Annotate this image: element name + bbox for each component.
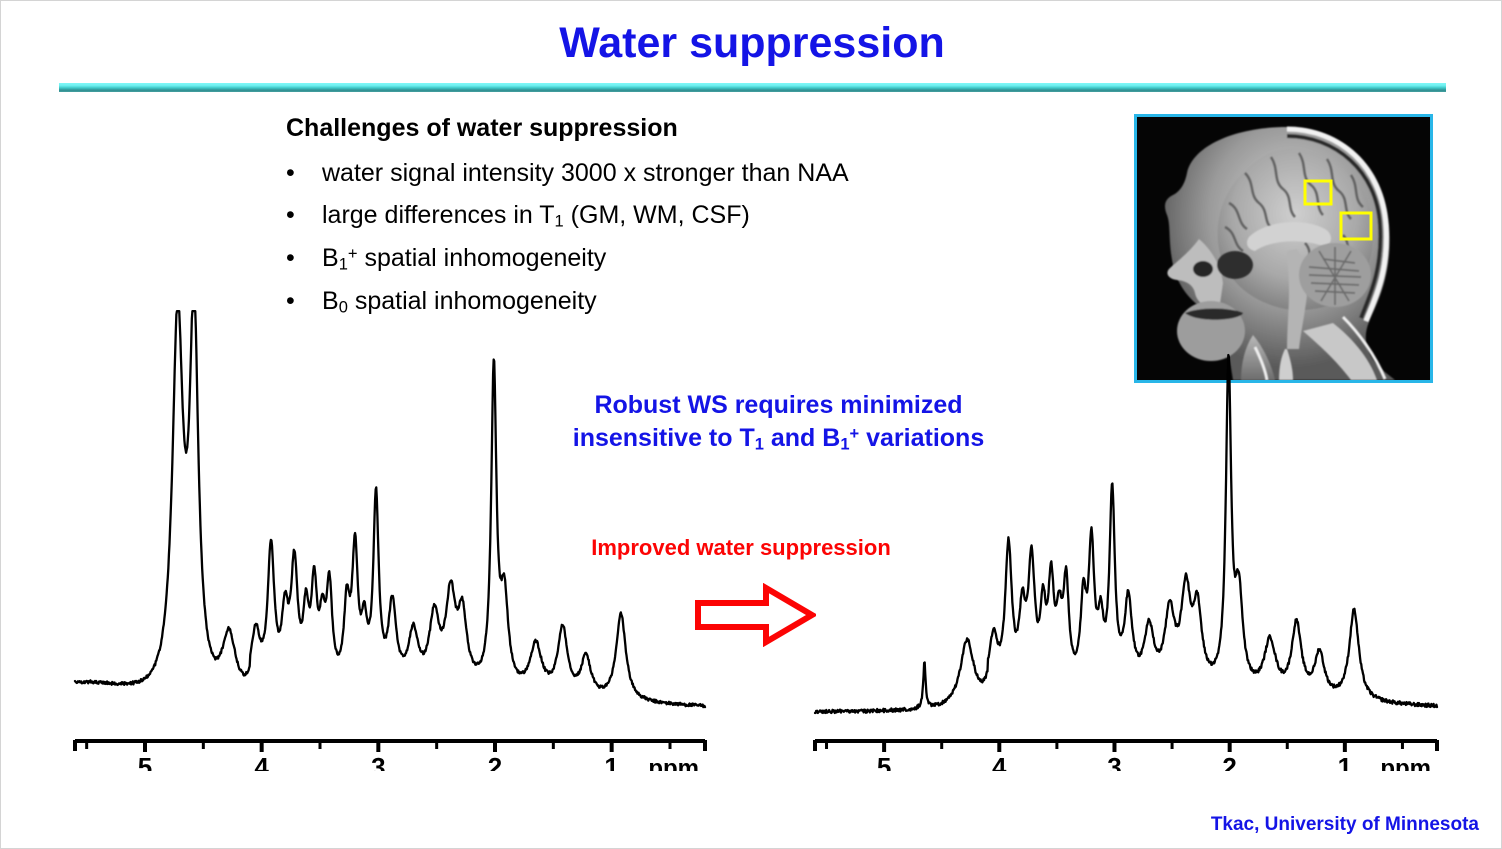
spectrum-right-svg: 54321ppm — [799, 301, 1451, 771]
voxel-box-overlay — [1339, 211, 1375, 243]
spectrum-left-svg: 54321ppm — [59, 301, 719, 771]
axis-tick-label: 2 — [488, 752, 502, 771]
credit-line: Tkac, University of Minnesota — [1211, 814, 1479, 836]
axis-tick-label: 2 — [1222, 752, 1236, 771]
bullet-marker-icon: • — [286, 203, 322, 228]
list-item-label: B1+ spatial inhomogeneity — [322, 244, 606, 275]
list-item-label: water signal intensity 3000 x stronger t… — [322, 159, 849, 189]
axis-tick-label: 5 — [877, 752, 891, 771]
list-item-label: large differences in T1 (GM, WM, CSF) — [322, 201, 750, 232]
spectrum-chart-after: 54321ppm — [799, 301, 1451, 771]
axis-tick-label: 3 — [1107, 752, 1121, 771]
list-item: • B1+ spatial inhomogeneity — [286, 244, 986, 275]
ppm-axis: 54321ppm — [815, 740, 1437, 771]
axis-tick-label: 3 — [371, 752, 385, 771]
bullet-marker-icon: • — [286, 246, 322, 271]
spectrum-trace — [75, 311, 705, 707]
axis-tick-label: 5 — [138, 752, 152, 771]
axis-unit-label: ppm — [1380, 755, 1431, 771]
axis-unit-label: ppm — [648, 755, 699, 771]
title-divider — [59, 83, 1446, 92]
axis-tick-label: 4 — [992, 752, 1007, 771]
axis-tick-label: 1 — [1338, 752, 1352, 771]
axis-tick-label: 1 — [604, 752, 618, 771]
list-item: • large differences in T1 (GM, WM, CSF) — [286, 201, 986, 232]
bullets-heading: Challenges of water suppression — [286, 114, 986, 143]
spectrum-trace — [815, 355, 1437, 713]
list-item: • water signal intensity 3000 x stronger… — [286, 159, 986, 189]
ppm-axis: 54321ppm — [75, 740, 705, 771]
slide-canvas: Water suppression Challenges of water su… — [0, 0, 1502, 849]
challenges-list: Challenges of water suppression • water … — [286, 114, 986, 330]
page-title: Water suppression — [1, 19, 1502, 68]
bullet-marker-icon: • — [286, 161, 322, 186]
spectrum-chart-before: 54321ppm — [59, 301, 719, 771]
axis-tick-label: 4 — [254, 752, 269, 771]
